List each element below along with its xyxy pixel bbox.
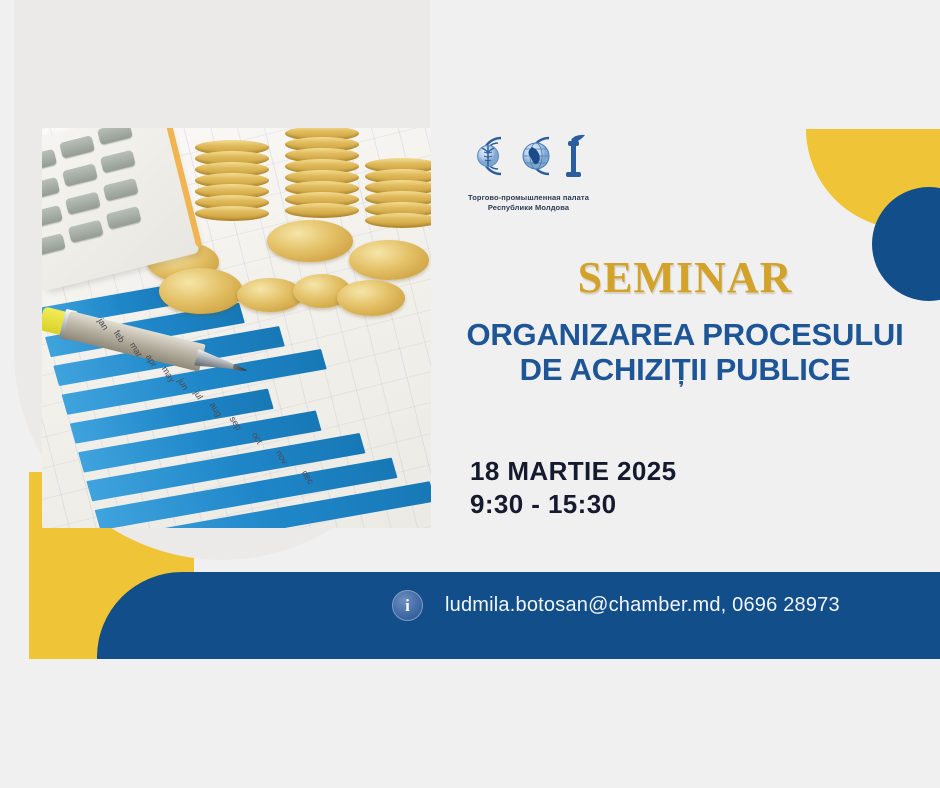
globe-moldova-emblem	[513, 132, 559, 186]
event-time: 9:30 - 15:30	[470, 488, 910, 521]
logo-emblems	[467, 132, 591, 190]
info-icon: i	[392, 590, 423, 621]
page-title: ORGANIZAREA PROCESULUI DE ACHIZIȚII PUBL…	[430, 318, 940, 387]
logo-caption: Торгово-промышленная палата Республики М…	[468, 193, 589, 212]
caduceus-emblem	[467, 132, 511, 186]
contact-row: i ludmila.botosan@chamber.md, 0696 28973	[392, 590, 840, 621]
event-date: 18 MARTIE 2025	[470, 455, 910, 488]
finance-photo: jan feb mar apr may jun jul aug sep oct …	[42, 128, 431, 528]
page-title-line1: ORGANIZAREA PROCESULUI	[430, 318, 940, 353]
letter-i-wing-emblem	[561, 132, 591, 186]
seminar-kicker: SEMINAR	[0, 252, 940, 303]
cci-moldova-logo: Торгово-промышленная палата Республики М…	[466, 132, 591, 222]
schedule-block: 18 MARTIE 2025 9:30 - 15:30	[470, 455, 910, 521]
poster-canvas: jan feb mar apr may jun jul aug sep oct …	[0, 0, 940, 788]
contact-text[interactable]: ludmila.botosan@chamber.md, 0696 28973	[445, 594, 840, 617]
photo-coin-stacks	[189, 128, 431, 352]
logo-caption-line1: Торгово-промышленная палата	[468, 193, 589, 203]
page-title-line2: DE ACHIZIȚII PUBLICE	[430, 353, 940, 388]
logo-caption-line2: Республики Молдова	[468, 203, 589, 213]
